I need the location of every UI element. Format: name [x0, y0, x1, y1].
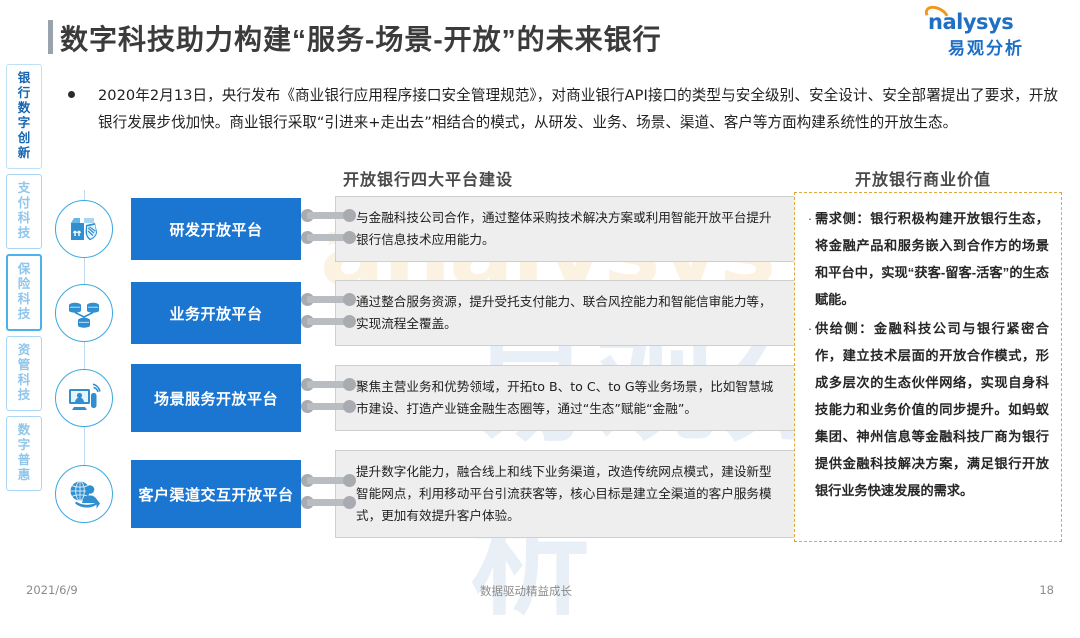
chain-link-connectors [301, 293, 361, 333]
platform-description: 聚焦主营业务和优势领域，开拓to B、to C、to G等业务场景，比如智慧城市… [335, 365, 795, 431]
analysys-logo: nalysys 易观分析 [922, 8, 1052, 60]
chain-link-connectors [301, 378, 361, 418]
sidebar-item-insurance-tech[interactable]: 保 险 科 技 [6, 254, 42, 331]
chain-link-connectors [301, 474, 361, 514]
sidebar-char: 数 [7, 101, 41, 116]
value-item-text: 供给侧：金融科技公司与银行紧密合作，建立技术层面的开放合作模式，形成多层次的生态… [815, 315, 1049, 504]
title-accent-bar [48, 20, 53, 54]
platform-row: 客户渠道交互开放平台 提升数字化能力，融合线上和线下业务渠道，改造传统网点模式，… [55, 450, 795, 538]
platform-description: 与金融科技公司合作，通过整体采购技术解决方案或利用智能开放平台提升银行信息技术应… [335, 196, 795, 262]
link-connector-icon [301, 380, 356, 389]
sidebar-char: 普 [7, 453, 41, 468]
platform-row: 业务开放平台 通过整合服务资源，提升受托支付能力、联合风控能力和智能信审能力等，… [55, 280, 795, 346]
page-title: 数字科技助力构建“服务-场景-开放”的未来银行 [60, 18, 662, 58]
link-connector-icon [301, 233, 356, 242]
sidebar-char: 技 [7, 226, 41, 241]
sidebar-char: 科 [7, 211, 41, 226]
sidebar-char: 字 [7, 438, 41, 453]
database-cluster-icon [55, 284, 113, 342]
platform-description: 通过整合服务资源，提升受托支付能力、联合风控能力和智能信审能力等，实现流程全覆盖… [335, 280, 795, 346]
sidebar: 银 行 数 字 创 新 支 付 科 技 保 险 科 技 资 管 科 技 数 字 … [6, 64, 46, 496]
platform-label[interactable]: 场景服务开放平台 [131, 364, 301, 432]
intro-paragraph: 2020年2月13日，央行发布《商业银行应用程序接口安全管理规范》，对商业银行A… [68, 82, 1058, 136]
sidebar-char: 管 [7, 358, 41, 373]
link-connector-icon [301, 402, 356, 411]
link-connector-icon [301, 498, 356, 507]
platform-list: 研发开放平台 与金融科技公司合作，通过整体采购技术解决方案或利用智能开放平台提升… [55, 196, 795, 556]
slide-header: 数字科技助力构建“服务-场景-开放”的未来银行 nalysys 易观分析 [0, 0, 1080, 66]
sidebar-char: 创 [7, 131, 41, 146]
sidebar-char: 数 [7, 423, 41, 438]
value-list-item: · 需求侧：银行积极构建开放银行生态，将金融产品和服务嵌入到合作方的场景和平台中… [805, 205, 1049, 313]
logo-text-cn: 易观分析 [948, 34, 1024, 59]
sidebar-char: 科 [8, 292, 40, 307]
sidebar-char: 技 [7, 388, 41, 403]
business-value-panel: · 需求侧：银行积极构建开放银行生态，将金融产品和服务嵌入到合作方的场景和平台中… [794, 192, 1062, 542]
sidebar-char: 险 [8, 277, 40, 292]
footer-page-number: 18 [1039, 583, 1054, 597]
value-item-text: 需求侧：银行积极构建开放银行生态，将金融产品和服务嵌入到合作方的场景和平台中，实… [815, 205, 1049, 313]
bullet-dot-icon: · [805, 205, 815, 232]
sidebar-char: 新 [7, 146, 41, 161]
footer-date: 2021/6/9 [26, 583, 78, 597]
sidebar-char: 行 [7, 86, 41, 101]
sidebar-item-bank-digital-innovation[interactable]: 银 行 数 字 创 新 [6, 64, 42, 169]
section-heading-business-value: 开放银行商业价值 [855, 166, 991, 190]
globe-person-icon [55, 465, 113, 523]
value-list-item: · 供给侧：金融科技公司与银行紧密合作，建立技术层面的开放合作模式，形成多层次的… [805, 315, 1049, 504]
sidebar-char: 科 [7, 373, 41, 388]
platform-label[interactable]: 研发开放平台 [131, 198, 301, 260]
sidebar-char: 银 [7, 71, 41, 86]
intro-text: 2020年2月13日，央行发布《商业银行应用程序接口安全管理规范》，对商业银行A… [98, 82, 1058, 136]
slide-footer: 2021/6/9 数据驱动精益成长 18 [0, 574, 1080, 608]
link-connector-icon [301, 476, 356, 485]
link-connector-icon [301, 295, 356, 304]
bullet-dot-icon [68, 91, 75, 98]
bullet-dot-icon: · [805, 315, 815, 342]
video-customer-service-icon [55, 369, 113, 427]
sidebar-char: 字 [7, 116, 41, 131]
sidebar-char: 保 [8, 262, 40, 277]
sidebar-item-payment-tech[interactable]: 支 付 科 技 [6, 174, 42, 249]
platform-row: 场景服务开放平台 聚焦主营业务和优势领域，开拓to B、to C、to G等业务… [55, 364, 795, 432]
sidebar-char: 资 [7, 343, 41, 358]
sidebar-char: 支 [7, 181, 41, 196]
link-connector-icon [301, 211, 356, 220]
sidebar-char: 付 [7, 196, 41, 211]
platform-label[interactable]: 客户渠道交互开放平台 [131, 460, 301, 528]
platform-row: 研发开放平台 与金融科技公司合作，通过整体采购技术解决方案或利用智能开放平台提升… [55, 196, 795, 262]
sidebar-item-digital-inclusive-finance[interactable]: 数 字 普 惠 [6, 416, 42, 491]
platform-description: 提升数字化能力，融合线上和线下业务渠道，改造传统网点模式，建设新型智能网点，利用… [335, 450, 795, 538]
chain-link-connectors [301, 209, 361, 249]
sidebar-char: 技 [8, 307, 40, 322]
platform-label[interactable]: 业务开放平台 [131, 282, 301, 344]
link-connector-icon [301, 317, 356, 326]
package-shield-icon [55, 200, 113, 258]
sidebar-item-asset-management-tech[interactable]: 资 管 科 技 [6, 336, 42, 411]
sidebar-char: 惠 [7, 468, 41, 483]
section-heading-platforms: 开放银行四大平台建设 [343, 166, 513, 190]
footer-slogan: 数据驱动精益成长 [480, 583, 572, 599]
